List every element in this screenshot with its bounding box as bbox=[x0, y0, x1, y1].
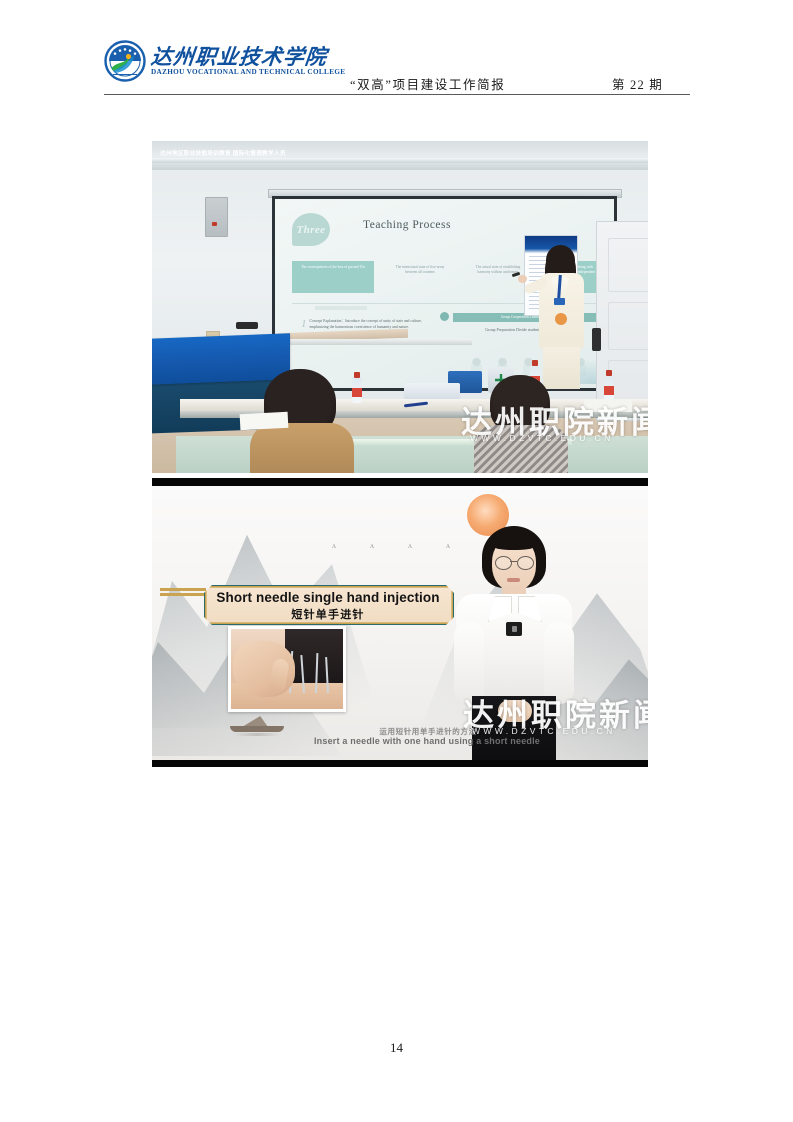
letterbox-bottom bbox=[152, 760, 648, 767]
college-crest-icon bbox=[104, 40, 146, 82]
slide-box-1: The consequences of the loss of gut and … bbox=[292, 261, 374, 293]
paper-sheet bbox=[584, 399, 632, 412]
presenter-chest-emblem bbox=[555, 313, 567, 325]
letterbox-top bbox=[152, 478, 648, 486]
bulletin-issue-number: 第 22 期 bbox=[612, 74, 663, 93]
desk-tray bbox=[404, 383, 460, 399]
door-handle-icon bbox=[592, 328, 601, 351]
water-bottle bbox=[352, 377, 362, 403]
acupuncture-course-video-photo: ʌ ʌ ʌ ʌ ʌ Short needle single hand injec… bbox=[152, 478, 648, 767]
instructor-figure bbox=[444, 526, 584, 760]
presenter-hair bbox=[546, 245, 575, 275]
lesson-title-en: Short needle single hand injection bbox=[204, 590, 452, 605]
slide-section-badge: Three bbox=[292, 213, 330, 246]
event-banner-text: 达州地区职业技能培训教育 国际化管理教学人员 bbox=[158, 150, 288, 160]
college-logo: 达州职业技术学院 DAZHOU VOCATIONAL AND TECHNICAL… bbox=[104, 40, 345, 82]
lesson-title-cn: 短针单手进针 bbox=[204, 606, 452, 622]
instructor-sleeve-right bbox=[544, 622, 574, 704]
bulletin-title: “双高”项目建设工作简报 bbox=[350, 74, 505, 93]
eyeglasses-lens-right-icon bbox=[517, 556, 534, 570]
microphone-icon bbox=[236, 322, 258, 329]
slide-item-number-1: 1 bbox=[301, 319, 307, 330]
eyeglasses-lens-left-icon bbox=[495, 556, 512, 570]
presenter-hand bbox=[518, 275, 527, 283]
boat-hull bbox=[230, 726, 284, 732]
page-number: 14 bbox=[0, 1040, 793, 1056]
audience-member-body bbox=[474, 425, 568, 473]
instructor-hands bbox=[498, 700, 532, 722]
instructor-sleeve-left bbox=[454, 622, 484, 704]
classroom-presentation-photo: Three Teaching Process The consequences … bbox=[152, 141, 648, 473]
slide-bullet-dot bbox=[440, 312, 449, 321]
subtitle-en: Insert a needle with one hand using a sh… bbox=[272, 736, 582, 746]
acupuncture-inset-photo bbox=[228, 626, 346, 712]
door-panel bbox=[608, 238, 648, 292]
acupuncture-inset-image bbox=[231, 629, 343, 709]
audience-member-body bbox=[250, 423, 354, 473]
college-name-en: DAZHOU VOCATIONAL AND TECHNICAL COLLEGE bbox=[151, 69, 345, 77]
slide-left-item-1: Concept Explanation：Introduce the concep… bbox=[310, 319, 422, 329]
whiteboard-rail bbox=[282, 339, 472, 345]
eyeglasses-bridge-icon bbox=[510, 561, 517, 562]
presenter-skirt bbox=[543, 347, 580, 389]
scroll-ornament-left-icon bbox=[160, 586, 206, 597]
instructor-mouth bbox=[507, 578, 520, 582]
slide-accent-bar bbox=[315, 306, 367, 310]
event-banner bbox=[152, 333, 290, 384]
slide-left-column: 1 Concept Explanation：Introduce the conc… bbox=[301, 319, 436, 330]
lapel-microphone-icon bbox=[506, 622, 522, 636]
video-scene: ʌ ʌ ʌ ʌ ʌ Short needle single hand injec… bbox=[152, 486, 648, 760]
presenter-id-badge bbox=[554, 298, 565, 305]
ink-boat-decoration-icon bbox=[224, 714, 292, 736]
water-bottle bbox=[604, 375, 614, 401]
lesson-title-banner: Short needle single hand injection 短针单手进… bbox=[204, 585, 452, 623]
wall-speaker-icon bbox=[205, 197, 228, 237]
header-divider-rule bbox=[104, 94, 690, 95]
college-logo-text: 达州职业技术学院 DAZHOU VOCATIONAL AND TECHNICAL… bbox=[151, 46, 345, 77]
paper-sheet bbox=[240, 412, 289, 430]
instructor-fringe bbox=[488, 532, 540, 550]
slide-box-2: The intensional state of five-array betw… bbox=[387, 261, 453, 293]
slide-title: Teaching Process bbox=[363, 219, 451, 231]
college-name-cn: 达州职业技术学院 bbox=[150, 46, 347, 68]
page-header: 达州职业技术学院 DAZHOU VOCATIONAL AND TECHNICAL… bbox=[104, 38, 690, 94]
door-panel bbox=[608, 302, 648, 350]
